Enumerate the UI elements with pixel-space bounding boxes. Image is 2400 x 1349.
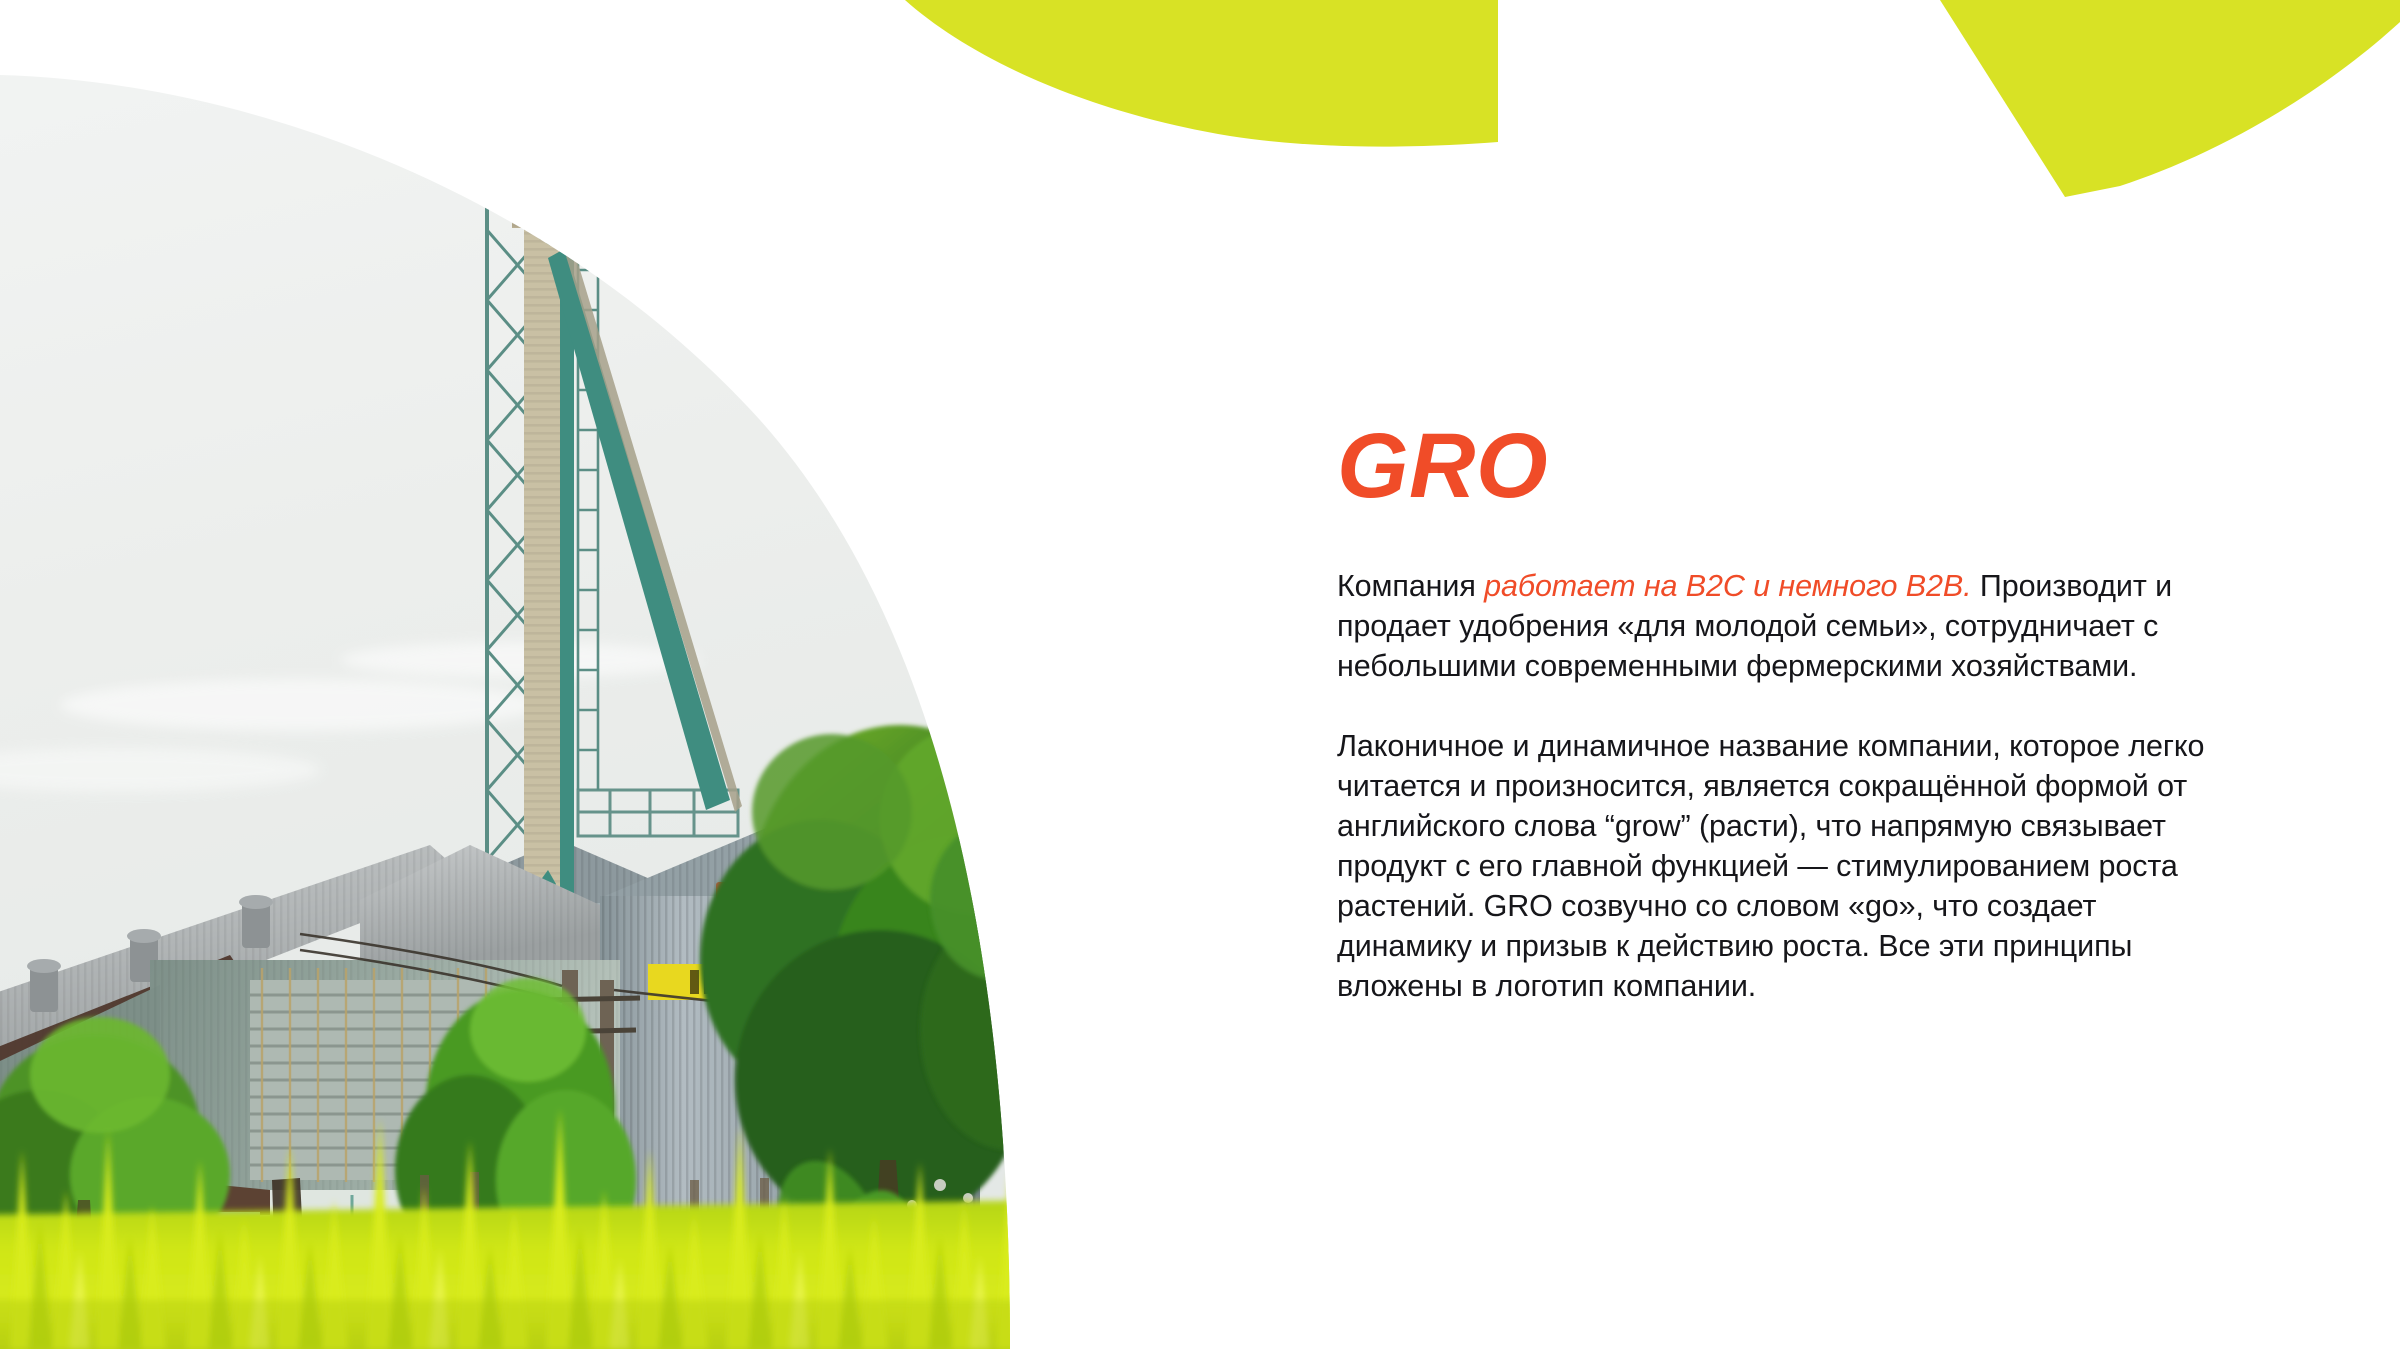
green-wedge-shape bbox=[1940, 0, 2400, 197]
paragraph-1-accent: работает на B2C и немного B2B. bbox=[1484, 569, 1971, 603]
photo-panel bbox=[0, 0, 1400, 1349]
brand-logo-gro: GRO bbox=[1337, 420, 2217, 512]
text-content-column: GRO Компания работает на B2C и немного B… bbox=[1337, 420, 2217, 1006]
paragraph-name-rationale: Лаконичное и динамичное название компани… bbox=[1337, 726, 2209, 1006]
paragraph-1-part-1: Компания bbox=[1337, 569, 1484, 603]
farm-photo bbox=[0, 0, 1400, 1349]
paragraph-company-profile: Компания работает на B2C и немного B2B. … bbox=[1337, 566, 2209, 686]
slide-canvas: GRO Компания работает на B2C и немного B… bbox=[0, 0, 2400, 1349]
